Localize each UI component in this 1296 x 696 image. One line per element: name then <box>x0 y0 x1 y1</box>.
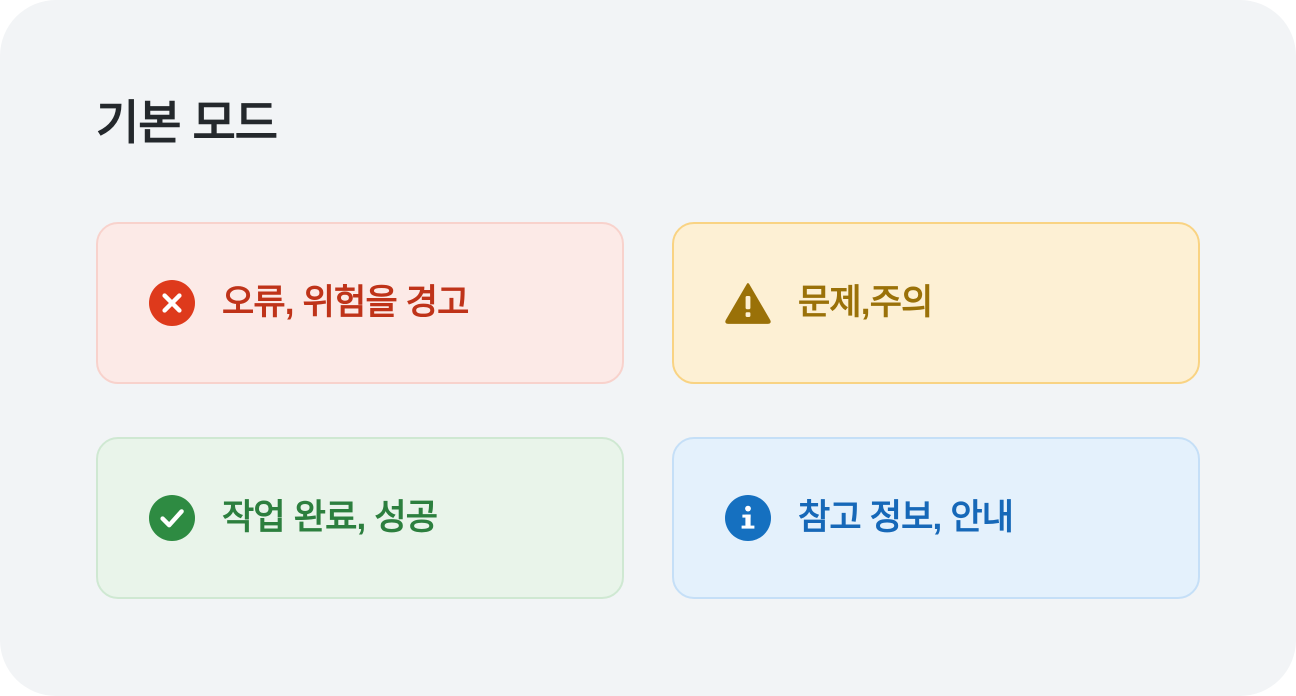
status-card-success[interactable]: 작업 완료, 성공 <box>96 437 624 599</box>
triangle-exclamation-icon <box>725 280 771 326</box>
status-card-info[interactable]: 참고 정보, 안내 <box>672 437 1200 599</box>
status-card-label: 작업 완료, 성공 <box>222 499 437 538</box>
status-card-warning[interactable]: 문제,주의 <box>672 222 1200 384</box>
status-card-label: 문제,주의 <box>798 284 933 323</box>
status-card-grid: 오류, 위험을 경고 문제,주의 작업 완료, 성공 <box>96 222 1200 599</box>
status-message-panel: 기본 모드 오류, 위험을 경고 문제,주의 작업 완료, <box>0 0 1296 696</box>
circle-check-icon <box>149 495 195 541</box>
status-card-error[interactable]: 오류, 위험을 경고 <box>96 222 624 384</box>
status-card-label: 오류, 위험을 경고 <box>222 284 469 323</box>
circle-x-icon <box>149 280 195 326</box>
circle-info-icon <box>725 495 771 541</box>
page-title: 기본 모드 <box>96 96 277 150</box>
status-card-label: 참고 정보, 안내 <box>798 499 1013 538</box>
